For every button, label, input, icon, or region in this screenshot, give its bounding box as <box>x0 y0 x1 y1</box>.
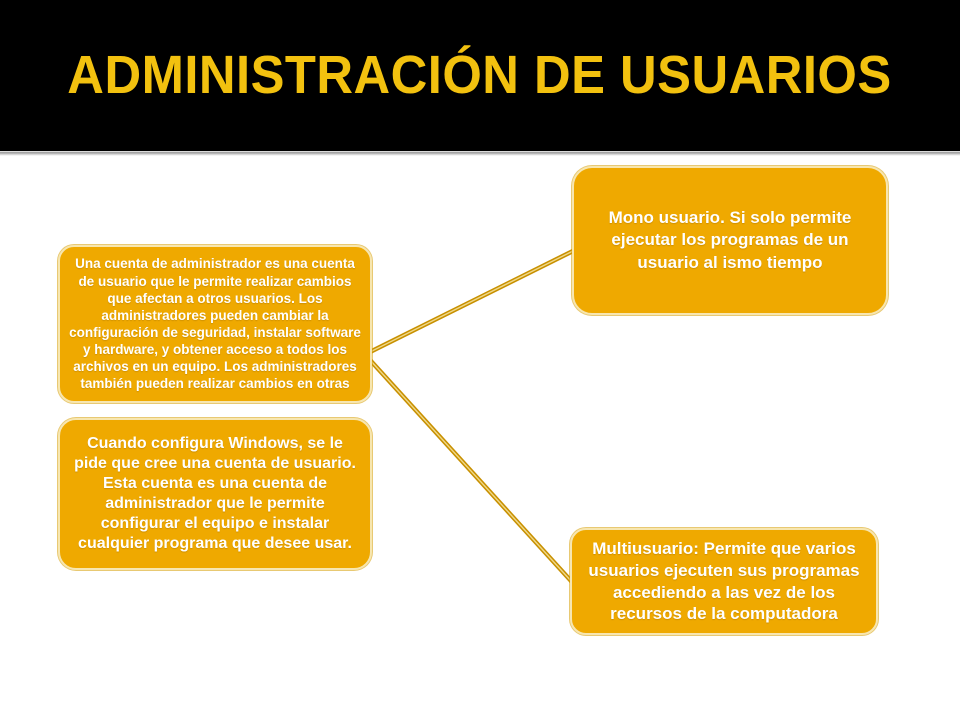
node-multiusuario-text: Multiusuario: Permite que varios usuario… <box>581 538 867 625</box>
node-mono-usuario-text: Mono usuario. Si solo permite ejecutar l… <box>583 207 877 273</box>
node-mono-usuario[interactable]: Mono usuario. Si solo permite ejecutar l… <box>572 166 888 315</box>
node-windows-setup[interactable]: Cuando configura Windows, se le pide que… <box>58 418 372 570</box>
slide-title: ADMINISTRACIÓN DE USUARIOS <box>68 47 892 104</box>
node-admin-account-text: Una cuenta de administrador es una cuent… <box>69 255 361 392</box>
connector-to-mono-usuario <box>370 250 575 352</box>
node-admin-account[interactable]: Una cuenta de administrador es una cuent… <box>58 245 372 403</box>
title-divider-rule <box>0 151 960 156</box>
connector-to-multiusuario <box>370 360 572 582</box>
title-banner: ADMINISTRACIÓN DE USUARIOS <box>0 0 960 151</box>
slide-canvas: ADMINISTRACIÓN DE USUARIOS Una cuenta de… <box>0 0 960 720</box>
node-windows-setup-text: Cuando configura Windows, se le pide que… <box>69 434 361 555</box>
node-multiusuario[interactable]: Multiusuario: Permite que varios usuario… <box>570 528 878 635</box>
